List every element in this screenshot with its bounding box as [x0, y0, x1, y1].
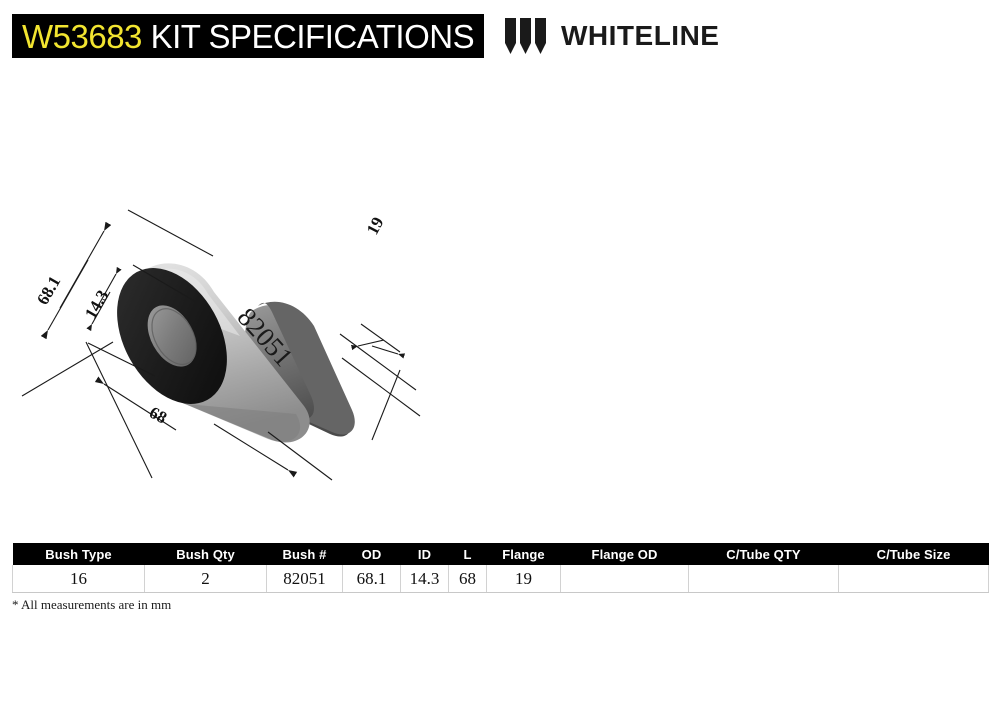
specifications-table-container: Bush Type Bush Qty Bush # OD ID L Flange… [12, 543, 988, 593]
dimension-od-label: 68.1 [33, 273, 64, 308]
kit-title: KIT SPECIFICATIONS [151, 18, 475, 55]
cell-flange: 19 [487, 565, 561, 593]
measurement-footnote: * All measurements are in mm [12, 597, 171, 613]
cell-od: 68.1 [343, 565, 401, 593]
cell-bush-type: 16 [13, 565, 145, 593]
whiteline-shield-icon [504, 16, 550, 56]
cell-l: 68 [449, 565, 487, 593]
dimension-flange: 19 [340, 214, 420, 440]
column-header-od: OD [343, 543, 401, 565]
cell-flange-od [561, 565, 689, 593]
column-header-id: ID [401, 543, 449, 565]
cell-bush-number: 82051 [267, 565, 343, 593]
column-header-bush-type: Bush Type [13, 543, 145, 565]
dimension-flange-label: 19 [363, 214, 388, 238]
page-title: W53683 KIT SPECIFICATIONS [22, 20, 474, 53]
title-bar: W53683 KIT SPECIFICATIONS [12, 14, 484, 58]
column-header-ctube-qty: C/Tube QTY [689, 543, 839, 565]
column-header-l: L [449, 543, 487, 565]
bush-render: 82051 [95, 249, 355, 443]
kit-code: W53683 [22, 18, 142, 55]
brand-name: WHITELINE [561, 22, 720, 50]
cell-ctube-qty [689, 565, 839, 593]
column-header-flange-od: Flange OD [561, 543, 689, 565]
table-header-row: Bush Type Bush Qty Bush # OD ID L Flange… [13, 543, 989, 565]
cell-bush-qty: 2 [145, 565, 267, 593]
cell-id: 14.3 [401, 565, 449, 593]
technical-drawing: 82051 68.1 14.3 68 [0, 78, 1000, 528]
column-header-ctube-size: C/Tube Size [839, 543, 989, 565]
brand-logo: WHITELINE [504, 17, 720, 55]
column-header-flange: Flange [487, 543, 561, 565]
column-header-bush-qty: Bush Qty [145, 543, 267, 565]
table-row: 16 2 82051 68.1 14.3 68 19 [13, 565, 989, 593]
dimension-id-label: 14.3 [81, 287, 112, 322]
specifications-table: Bush Type Bush Qty Bush # OD ID L Flange… [12, 543, 989, 593]
page-header: W53683 KIT SPECIFICATIONS WHITELINE [0, 0, 1000, 76]
cell-ctube-size [839, 565, 989, 593]
column-header-bush-number: Bush # [267, 543, 343, 565]
